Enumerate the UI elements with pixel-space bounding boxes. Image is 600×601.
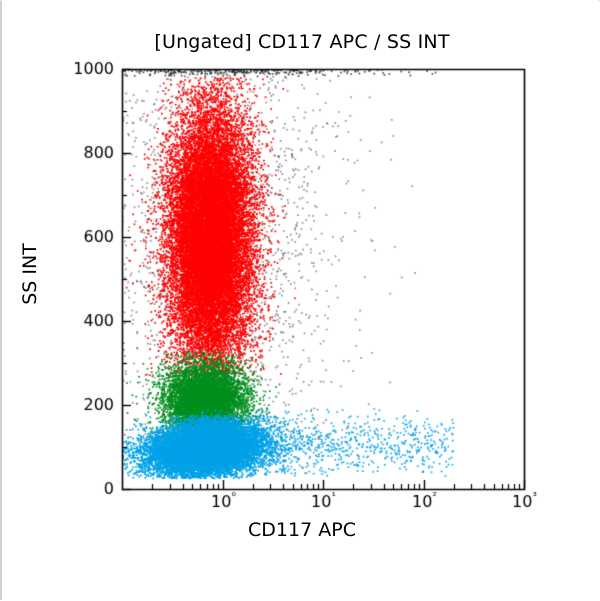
scatter-plot-canvas[interactable] [2,1,600,601]
flow-cytometry-figure: [Ungated] CD117 APC / SS INT CD117 APC S… [0,0,600,600]
